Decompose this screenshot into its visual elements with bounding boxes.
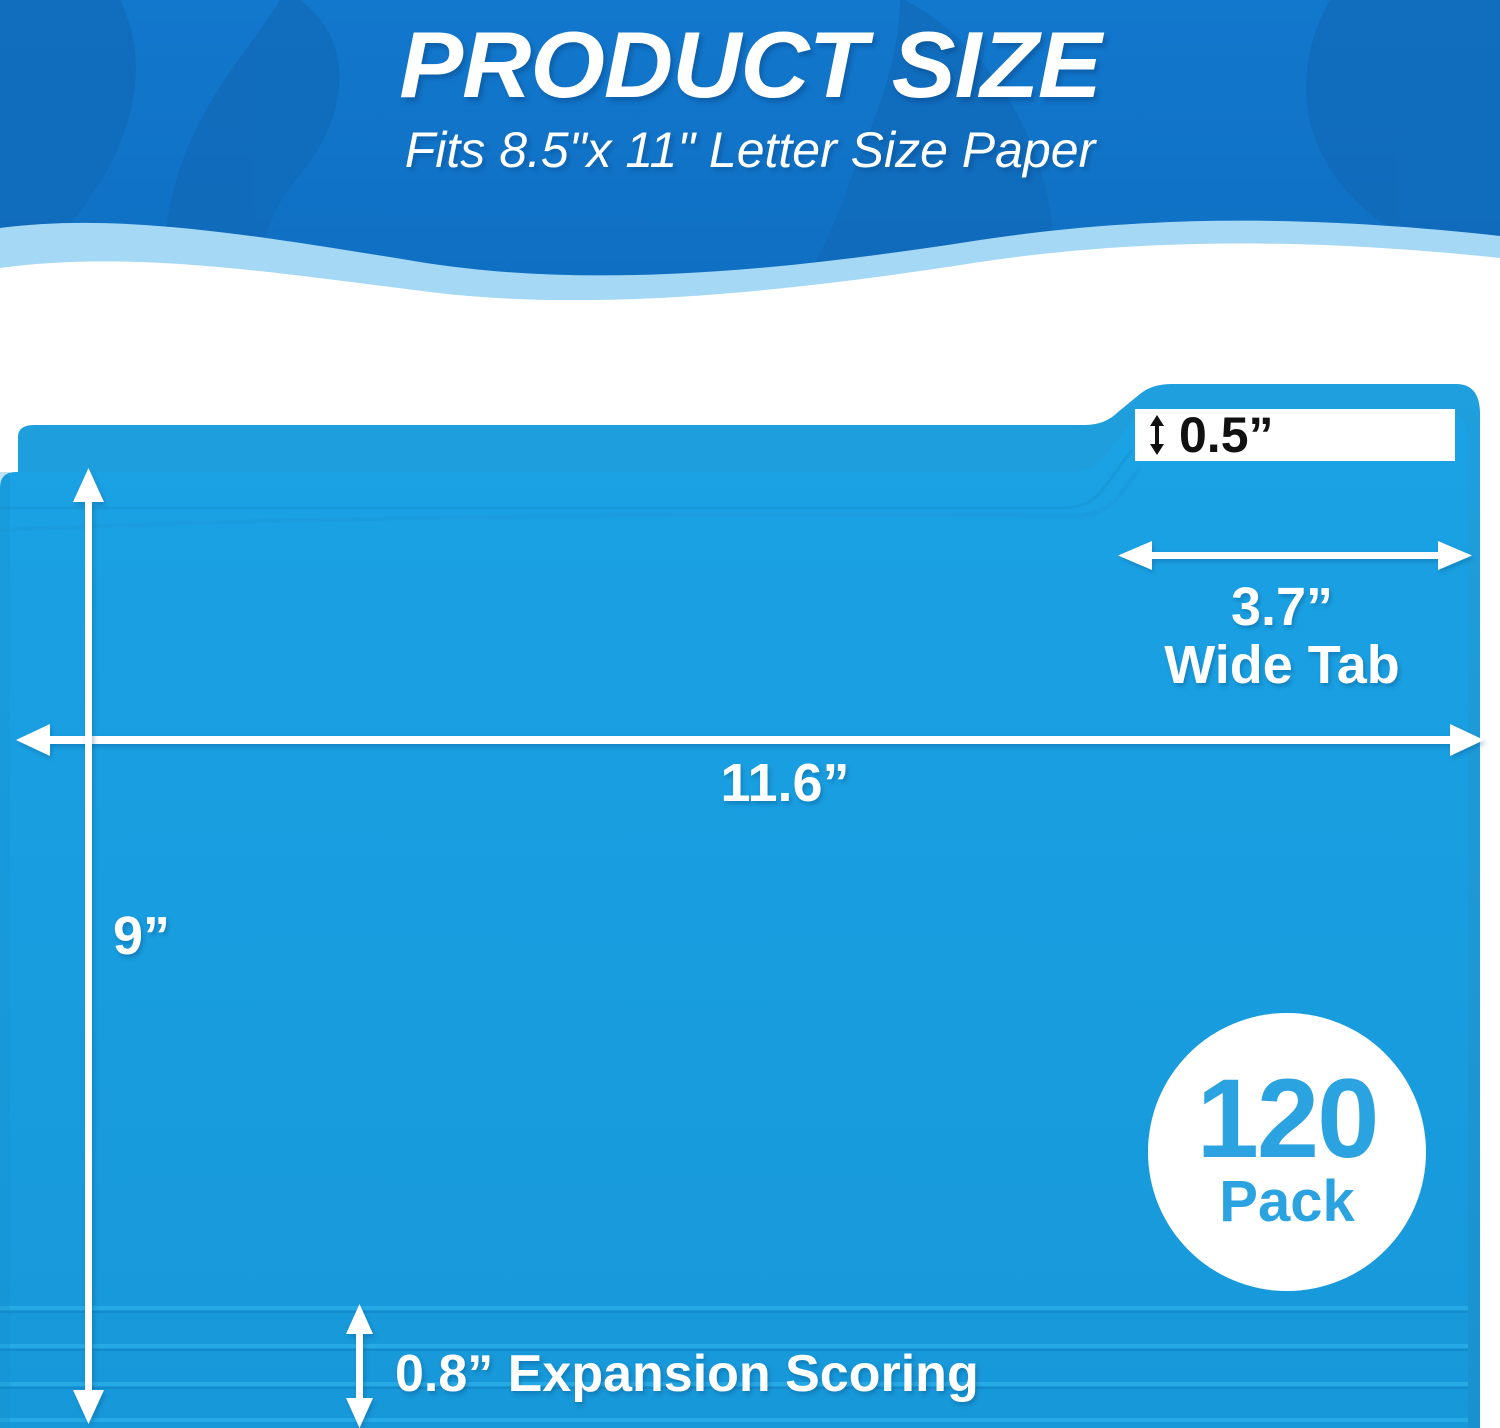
pack-count-value: 120: [1197, 1067, 1378, 1170]
page-title: PRODUCT SIZE: [0, 14, 1500, 116]
tab-width-label-group: 3.7” Wide Tab: [1092, 578, 1472, 695]
header-banner: PRODUCT SIZE Fits 8.5"x 11" Letter Size …: [0, 0, 1500, 300]
page-subtitle: Fits 8.5"x 11" Letter Size Paper: [0, 123, 1500, 178]
tab-height-arrow-icon: [1149, 415, 1165, 455]
expansion-scoring-label: 0.8” Expansion Scoring: [395, 1344, 979, 1404]
tab-height-label: 0.5”: [1179, 410, 1274, 460]
folder-left-edge-shade: [0, 472, 10, 1428]
pack-count-badge: 120 Pack: [1148, 1013, 1426, 1291]
tab-width-caption: Wide Tab: [1092, 636, 1472, 694]
tab-height-callout: 0.5”: [1135, 409, 1455, 461]
folder-width-label: 11.6”: [0, 752, 1500, 814]
tab-width-value: 3.7”: [1092, 578, 1472, 636]
product-size-infographic: PRODUCT SIZE Fits 8.5"x 11" Letter Size …: [0, 0, 1500, 1428]
pack-count-unit: Pack: [1219, 1173, 1354, 1231]
folder-height-label: 9”: [113, 905, 170, 967]
